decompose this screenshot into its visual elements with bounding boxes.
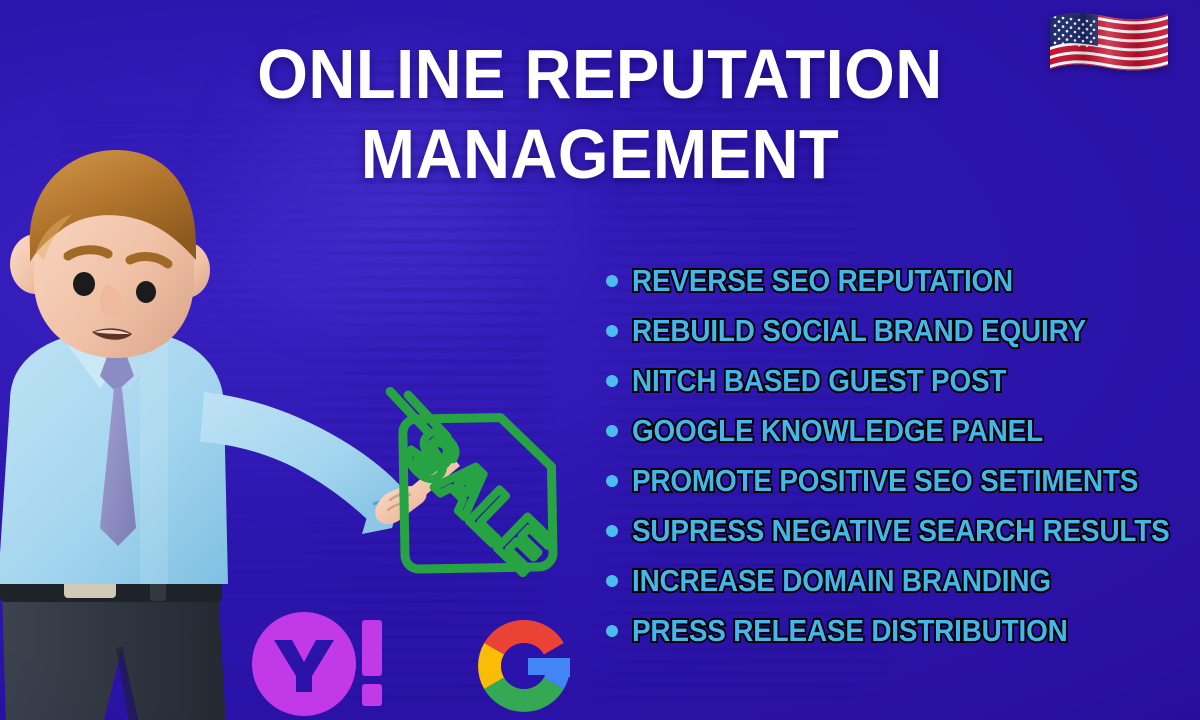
list-item-label: REBUILD SOCIAL BRAND EQUIRY — [632, 314, 1086, 348]
bullet-dot-icon — [606, 325, 618, 337]
bullet-dot-icon — [606, 525, 618, 537]
sale-tag-label: SALE — [392, 415, 565, 585]
list-item[interactable]: GOOGLE KNOWLEDGE PANEL — [606, 406, 1192, 456]
list-item[interactable]: SUPRESS NEGATIVE SEARCH RESULTS — [606, 506, 1192, 556]
bullet-dot-icon — [606, 425, 618, 437]
yahoo-logo[interactable] — [252, 608, 392, 720]
list-item-label: NITCH BASED GUEST POST — [632, 364, 1006, 398]
list-item-label: PRESS RELEASE DISTRIBUTION — [632, 614, 1068, 648]
list-item-label: REVERSE SEO REPUTATION — [632, 264, 1013, 298]
list-item[interactable]: PROMOTE POSITIVE SEO SETIMENTS — [606, 456, 1192, 506]
list-item-label: SUPRESS NEGATIVE SEARCH RESULTS — [632, 514, 1170, 548]
list-item[interactable]: REBUILD SOCIAL BRAND EQUIRY — [606, 306, 1192, 356]
list-item-label: GOOGLE KNOWLEDGE PANEL — [632, 414, 1043, 448]
bullet-dot-icon — [606, 575, 618, 587]
bullet-dot-icon — [606, 625, 618, 637]
bullet-dot-icon — [606, 475, 618, 487]
services-list: REVERSE SEO REPUTATION REBUILD SOCIAL BR… — [606, 256, 1192, 656]
title-line-1: ONLINE REPUTATION — [257, 35, 942, 113]
bullet-dot-icon — [606, 375, 618, 387]
online-reputation-management-poster: ONLINE REPUTATION MANAGEMENT — [0, 0, 1200, 720]
list-item-label: INCREASE DOMAIN BRANDING — [632, 564, 1051, 598]
list-item[interactable]: REVERSE SEO REPUTATION — [606, 256, 1192, 306]
list-item[interactable]: INCREASE DOMAIN BRANDING — [606, 556, 1192, 606]
google-logo[interactable] — [468, 612, 580, 720]
list-item[interactable]: NITCH BASED GUEST POST — [606, 356, 1192, 406]
bullet-dot-icon — [606, 275, 618, 287]
list-item-label: PROMOTE POSITIVE SEO SETIMENTS — [632, 464, 1138, 498]
list-item[interactable]: PRESS RELEASE DISTRIBUTION — [606, 606, 1192, 656]
united-states-flag-icon — [1050, 12, 1168, 73]
sale-price-tag-icon: SALE — [352, 372, 602, 622]
